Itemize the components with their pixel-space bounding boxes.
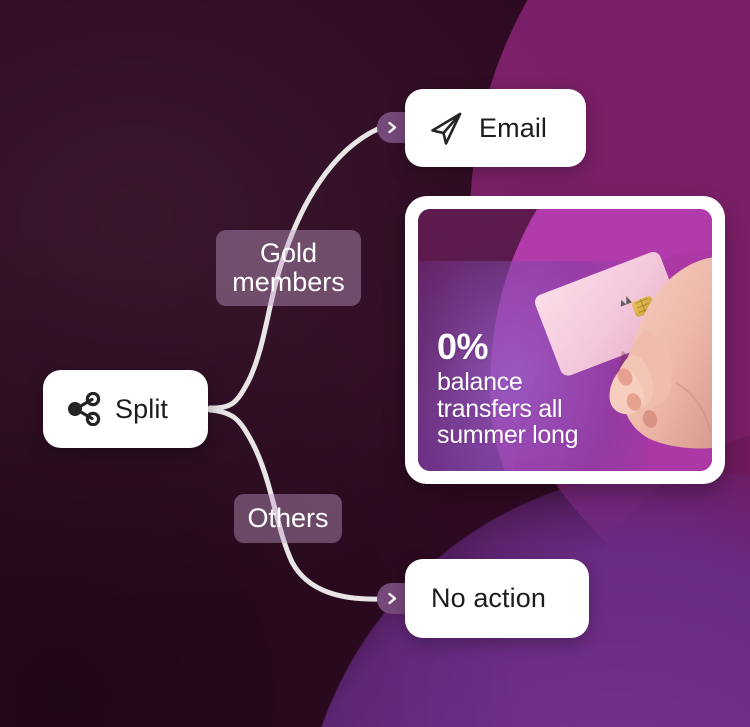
share-split-icon [65,392,101,426]
chip-line-2: members [232,268,345,297]
promo-subline-2: transfers all [437,396,578,423]
node-no-action-label: No action [431,583,546,614]
branch-condition-gold-members-label: Gold members [232,239,345,297]
branch-condition-others-label: Others [247,505,328,532]
chip-line-1: Gold [232,239,345,268]
promo-subline-1: balance [437,369,578,396]
send-paper-plane-icon [427,109,465,147]
promo-headline: 0% [437,329,578,365]
node-split-label: Split [115,394,168,425]
node-email-label: Email [479,113,547,144]
promo-creative-panel[interactable]: 0% balance transfers all summer long [405,196,725,484]
branch-condition-others[interactable]: Others [234,494,342,543]
promo-subline-3: summer long [437,422,578,449]
promo-text-block: 0% balance transfers all summer long [437,329,578,449]
node-split[interactable]: Split [43,370,208,448]
chevron-right-icon-email-connector[interactable] [377,112,407,143]
branch-condition-gold-members[interactable]: Gold members [216,230,361,306]
chevron-right-icon [386,120,399,135]
promo-creative-image: 0% balance transfers all summer long [418,209,712,471]
chevron-right-icon [386,591,399,606]
chevron-right-icon-noaction-connector[interactable] [377,583,407,614]
flow-canvas: Split Gold members Others Email No [0,0,750,727]
node-no-action[interactable]: No action [405,559,589,638]
node-email[interactable]: Email [405,89,586,167]
